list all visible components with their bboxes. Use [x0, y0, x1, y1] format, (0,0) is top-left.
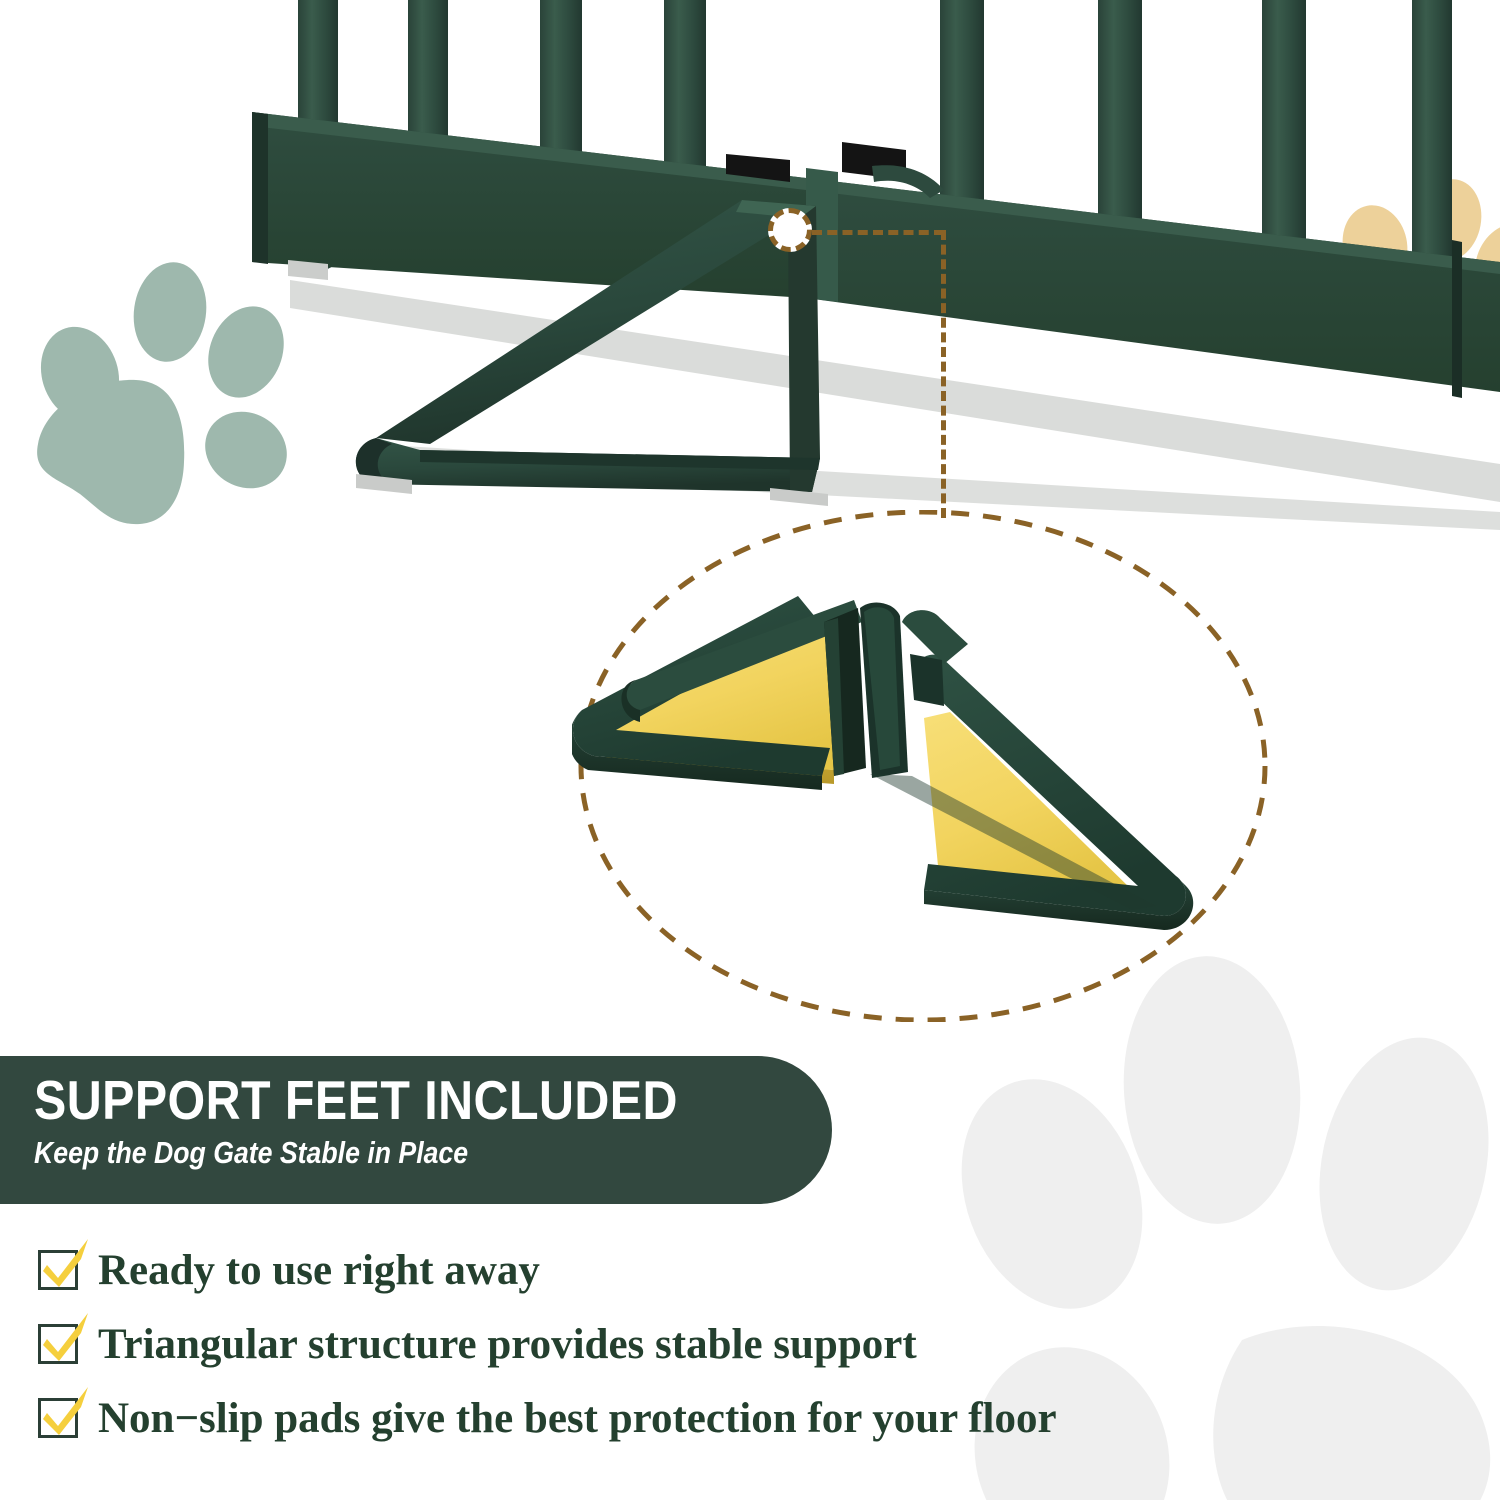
gate-base-rail-left — [252, 112, 806, 298]
feature-label: Ready to use right away — [98, 1249, 540, 1292]
support-frame-right-post — [910, 654, 944, 706]
gate-left-post — [252, 112, 268, 264]
support-foot-detail-render — [572, 560, 1292, 960]
feature-label: Non−slip pads give the best protection f… — [98, 1397, 1057, 1440]
banner-title: SUPPORT FEET INCLUDED — [34, 1072, 736, 1128]
callout-origin-marker — [768, 208, 812, 252]
checkbox-check-icon — [38, 1324, 78, 1364]
feature-item: Non−slip pads give the best protection f… — [38, 1381, 1338, 1455]
dog-gate-assembly — [0, 0, 1500, 532]
product-infographic: SUPPORT FEET INCLUDED Keep the Dog Gate … — [0, 0, 1500, 1500]
hero-product-image — [0, 0, 1500, 1040]
feature-item: Ready to use right away — [38, 1233, 1338, 1307]
feature-label: Triangular structure provides stable sup… — [98, 1323, 917, 1366]
checkbox-check-icon — [38, 1398, 78, 1438]
paw-toe — [1115, 950, 1309, 1230]
gate-base-rail-right — [806, 178, 1500, 392]
callout-connector-horizontal — [812, 230, 944, 235]
gate-right-panel-seam — [1452, 240, 1462, 398]
headline-banner: SUPPORT FEET INCLUDED Keep the Dog Gate … — [0, 1056, 832, 1204]
gate-right-panel — [806, 0, 1500, 398]
feature-item: Triangular structure provides stable sup… — [38, 1307, 1338, 1381]
banner-subtitle: Keep the Dog Gate Stable in Place — [34, 1135, 720, 1171]
callout-connector-vertical — [941, 230, 946, 518]
checkbox-check-icon — [38, 1250, 78, 1290]
feature-list: Ready to use right away Triangular struc… — [38, 1233, 1338, 1455]
